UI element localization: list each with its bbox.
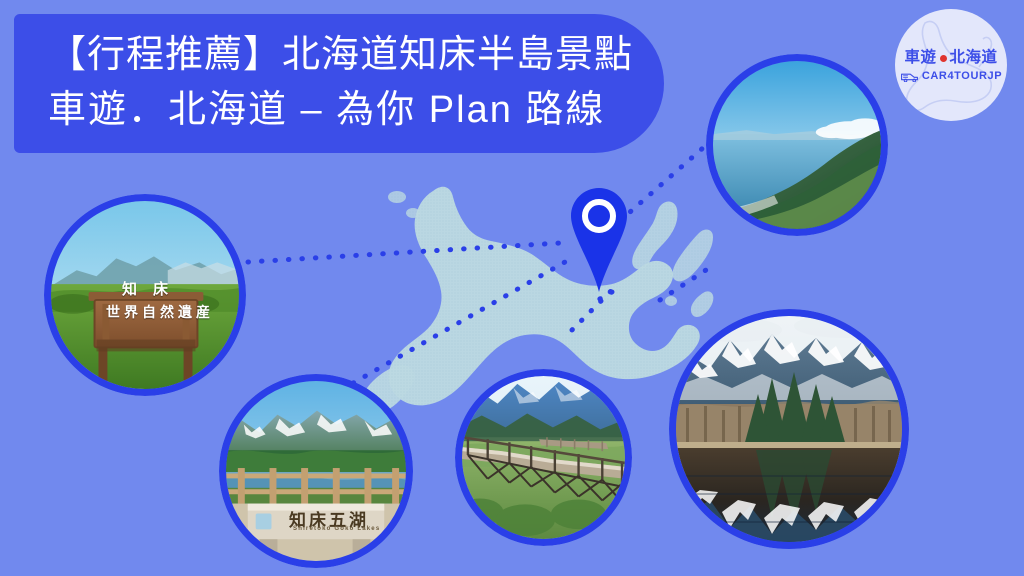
photo-shiretoko-five-lakes[interactable]: 知床五湖 Shiretoko Goko Lakes (219, 374, 413, 568)
photo-shiretoko-peninsula-coast[interactable] (706, 54, 888, 236)
photo-shiretoko-heritage-sign[interactable]: 知床 世界自然遺産 (44, 194, 246, 396)
photo-mountain-lake-reflection[interactable] (669, 309, 909, 549)
title-line-2: 車遊．北海道 – 為你 Plan 路線 (48, 83, 664, 138)
brand-logo[interactable]: 車遊 北海道 CAR4TOURJP (895, 9, 1007, 121)
title-line-1: 【行程推薦】北海道知床半島景點 (48, 28, 664, 83)
title-banner: 【行程推薦】北海道知床半島景點 車遊．北海道 – 為你 Plan 路線 (14, 14, 664, 153)
van-icon (900, 71, 919, 82)
logo-brand-en: CAR4TOURJP (922, 70, 1002, 83)
logo-text-block: 車遊 北海道 CAR4TOURJP (895, 49, 1007, 83)
photo-elevated-boardwalk[interactable] (455, 369, 632, 546)
logo-brand-row: 車遊 北海道 (895, 49, 1007, 67)
photo-art (713, 61, 881, 229)
logo-red-dot-icon (940, 55, 947, 62)
photo-art (676, 316, 902, 542)
logo-brand-cn2: 北海道 (950, 49, 998, 67)
photo-art (462, 376, 625, 539)
lakes-caption-sub: Shiretoko Goko Lakes (293, 526, 380, 532)
sign-caption-main: 知床 (122, 278, 184, 299)
logo-en-row: CAR4TOURJP (895, 70, 1007, 83)
map-pin-marker[interactable] (570, 186, 628, 294)
logo-brand-cn: 車遊 (904, 49, 936, 67)
sign-caption-sub: 世界自然遺産 (106, 302, 214, 322)
photo-art (226, 381, 406, 561)
poster-canvas: 知床 世界自然遺産 (0, 0, 1024, 576)
